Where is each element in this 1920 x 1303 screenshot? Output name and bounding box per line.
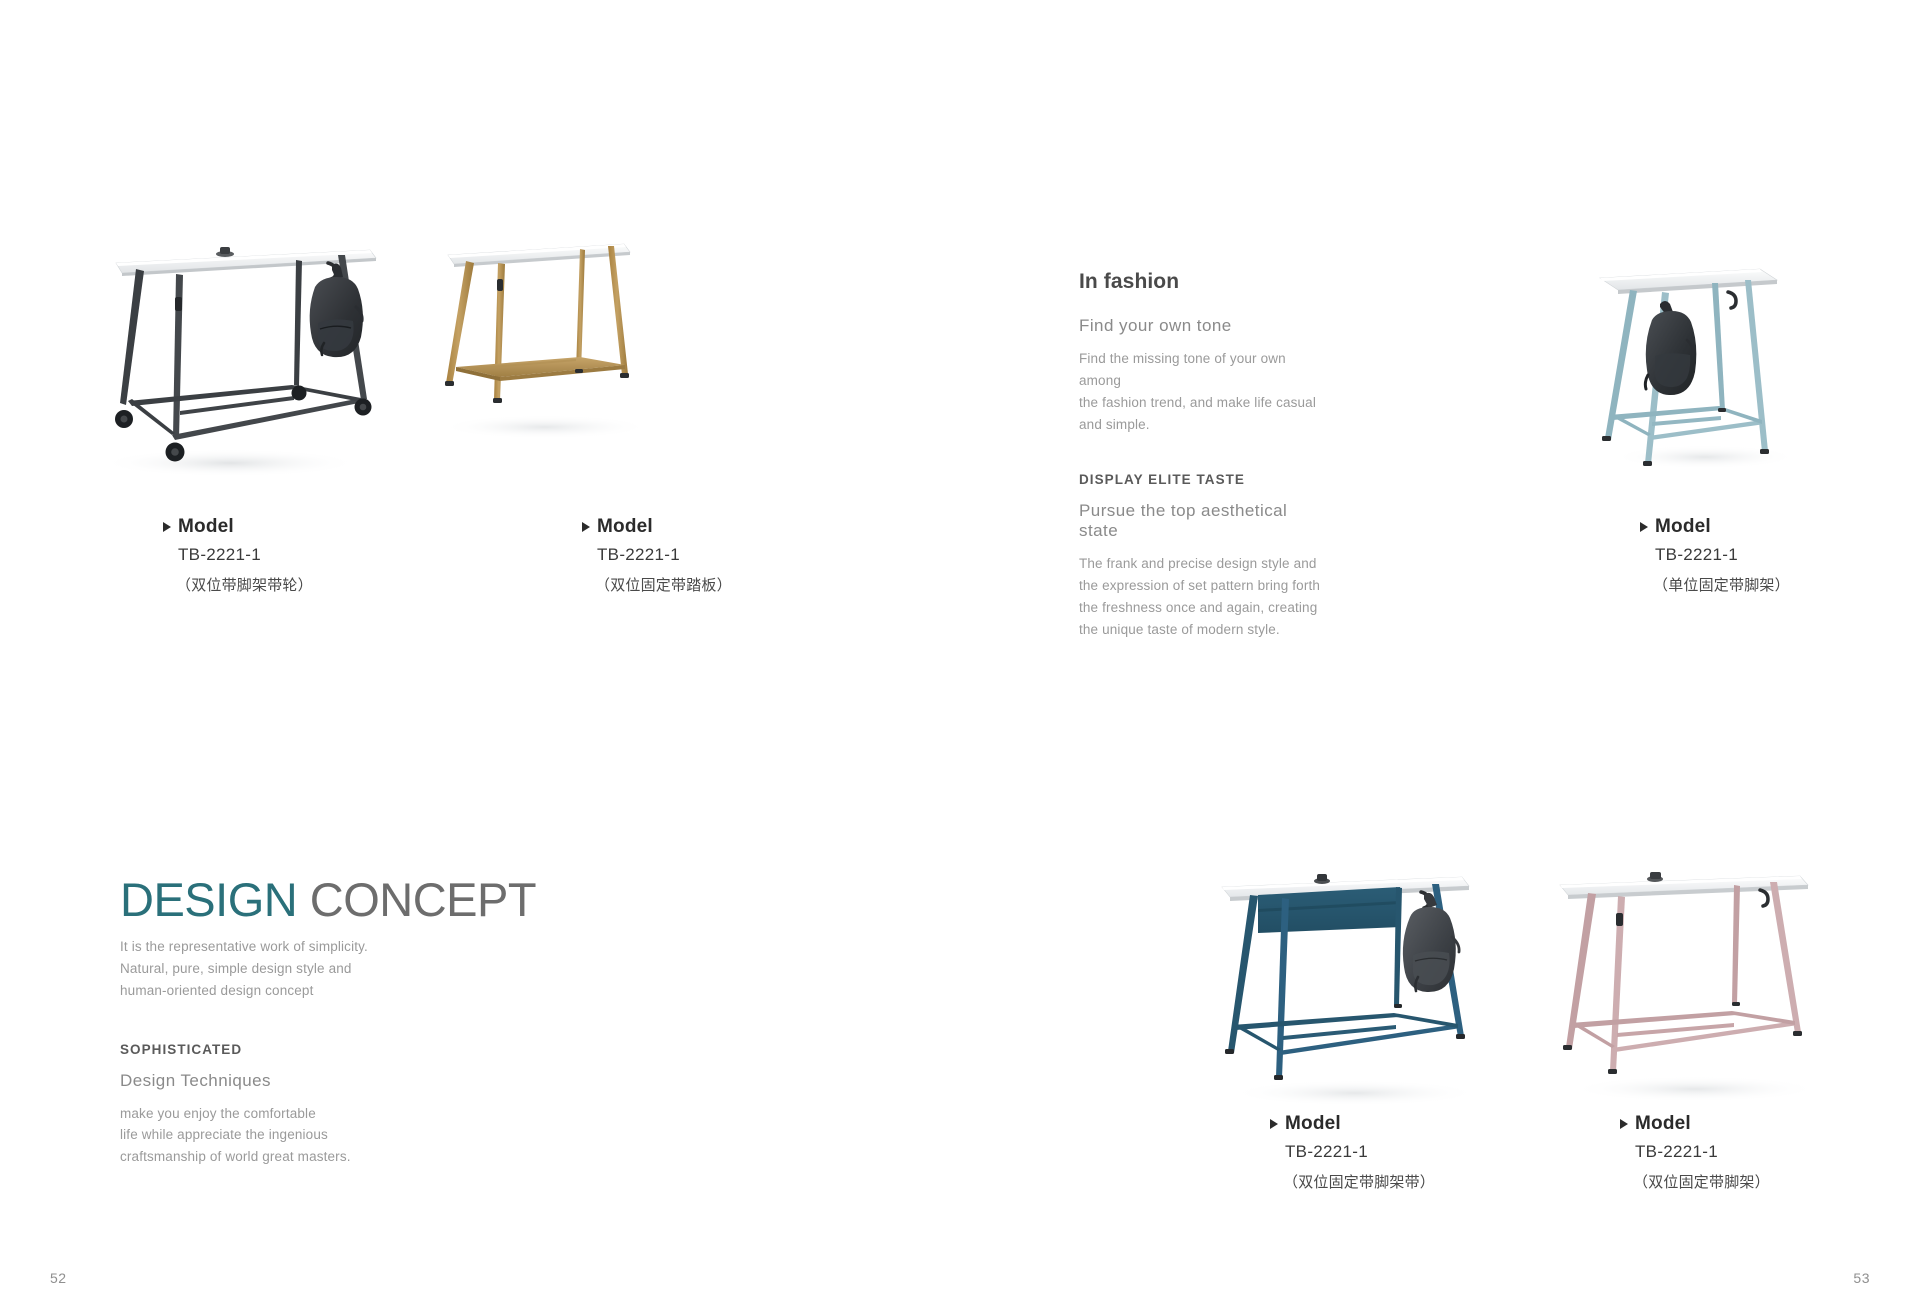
in-fashion-heading: In fashion xyxy=(1079,270,1329,294)
design-concept-heading: DESIGN CONCEPT xyxy=(120,872,536,927)
design-concept-body-line: It is the representative work of simplic… xyxy=(120,936,380,958)
model-title-row: Model xyxy=(1620,1113,1770,1135)
in-fashion-body-line: the fashion trend, and make life casual xyxy=(1079,392,1329,414)
product-photo-wood-footrest xyxy=(420,225,660,455)
model-title-text: Model xyxy=(1285,1113,1341,1135)
model-title-row: Model xyxy=(1270,1113,1435,1135)
model-code: TB-2221-1 xyxy=(597,545,732,565)
in-fashion-body: Find the missing tone of your own among … xyxy=(1079,348,1329,435)
model-label-wood-footrest: Model TB-2221-1 （双位固定带踏板） xyxy=(582,516,732,595)
model-title-row: Model xyxy=(582,516,732,538)
sophisticated-caption: SOPHISTICATED xyxy=(120,1042,380,1057)
design-concept-word-concept: CONCEPT xyxy=(310,873,536,926)
model-title-text: Model xyxy=(1635,1113,1691,1135)
display-elite-taste-body-line: The frank and precise design style and xyxy=(1079,553,1329,575)
triangle-bullet-icon xyxy=(1640,522,1648,532)
model-description: （单位固定带脚架） xyxy=(1653,574,1790,595)
product-photo-pink-frame xyxy=(1550,865,1840,1125)
model-label-lightblue-single: Model TB-2221-1 （单位固定带脚架） xyxy=(1640,516,1790,595)
model-title-row: Model xyxy=(1640,516,1790,538)
catalog-spread: Model TB-2221-1 （双位带脚架带轮） xyxy=(0,0,1920,1303)
model-code: TB-2221-1 xyxy=(178,545,313,565)
in-fashion-body-line: and simple. xyxy=(1079,414,1329,436)
model-description: （双位固定带踏板） xyxy=(595,574,732,595)
product-photo-lightblue-single xyxy=(1590,250,1820,480)
in-fashion-body-line: Find the missing tone of your own among xyxy=(1079,348,1329,392)
model-description: （双位固定带脚架） xyxy=(1633,1171,1770,1192)
in-fashion-subheading: Find your own tone xyxy=(1079,316,1329,336)
triangle-bullet-icon xyxy=(1270,1119,1278,1129)
model-label-petrol-panel: Model TB-2221-1 （双位固定带脚架带） xyxy=(1270,1113,1435,1192)
display-elite-taste-body: The frank and precise design style and t… xyxy=(1079,553,1329,640)
model-label-pink-frame: Model TB-2221-1 （双位固定带脚架） xyxy=(1620,1113,1770,1192)
model-title-text: Model xyxy=(1655,516,1711,538)
display-elite-taste-body-line: the freshness once and again, creating xyxy=(1079,597,1329,619)
design-concept-word-design: DESIGN xyxy=(120,873,297,926)
display-elite-taste-caption: DISPLAY ELITE TASTE xyxy=(1079,472,1329,487)
display-elite-taste-subheading: Pursue the top aesthetical state xyxy=(1079,501,1329,541)
display-elite-taste-body-line: the unique taste of modern style. xyxy=(1079,619,1329,641)
sophisticated-subheading: Design Techniques xyxy=(120,1071,380,1091)
design-concept-block: It is the representative work of simplic… xyxy=(120,936,380,1168)
product-photo-black-caster xyxy=(80,225,390,490)
model-description: （双位带脚架带轮） xyxy=(176,574,313,595)
model-title-text: Model xyxy=(178,516,234,538)
model-description: （双位固定带脚架带） xyxy=(1283,1171,1435,1192)
sophisticated-body-line: life while appreciate the ingenious xyxy=(120,1124,380,1146)
triangle-bullet-icon xyxy=(1620,1119,1628,1129)
triangle-bullet-icon xyxy=(582,522,590,532)
model-code: TB-2221-1 xyxy=(1635,1142,1770,1162)
sophisticated-body-line: make you enjoy the comfortable xyxy=(120,1103,380,1125)
design-concept-body-line: Natural, pure, simple design style and xyxy=(120,958,380,980)
triangle-bullet-icon xyxy=(163,522,171,532)
page-number-right: 53 xyxy=(1853,1270,1870,1286)
model-title-row: Model xyxy=(163,516,313,538)
model-code: TB-2221-1 xyxy=(1655,545,1790,565)
in-fashion-block: In fashion Find your own tone Find the m… xyxy=(1079,270,1329,641)
model-label-black-caster: Model TB-2221-1 （双位带脚架带轮） xyxy=(163,516,313,595)
model-code: TB-2221-1 xyxy=(1285,1142,1435,1162)
design-concept-body-line: human-oriented design concept xyxy=(120,980,380,1002)
display-elite-taste-body-line: the expression of set pattern bring fort… xyxy=(1079,575,1329,597)
product-photo-petrol-panel xyxy=(1210,865,1500,1125)
sophisticated-body-line: craftsmanship of world great masters. xyxy=(120,1146,380,1168)
design-concept-body: It is the representative work of simplic… xyxy=(120,936,380,1002)
model-title-text: Model xyxy=(597,516,653,538)
page-number-left: 52 xyxy=(50,1270,67,1286)
sophisticated-body: make you enjoy the comfortable life whil… xyxy=(120,1103,380,1169)
